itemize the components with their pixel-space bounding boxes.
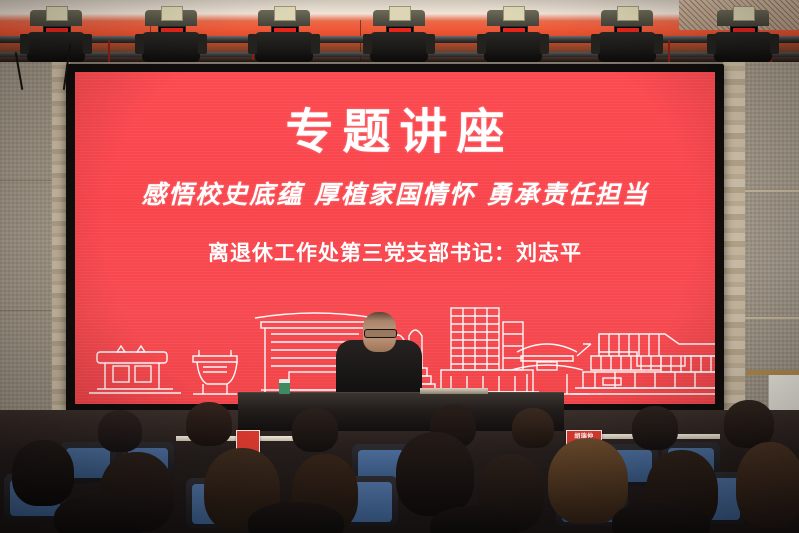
stage-light: [482, 4, 544, 62]
documents-on-table: [420, 388, 488, 394]
modern-library-icon: [571, 334, 715, 394]
audience-head: [54, 494, 146, 533]
audience-area: 胡瑞仲: [0, 398, 799, 533]
audience-head: [186, 402, 232, 446]
audience-head: [632, 406, 678, 450]
slide-subtitle: 感悟校史底蕴 厚植家国情怀 勇承责任担当: [75, 182, 715, 207]
stage-light: [25, 4, 87, 62]
presenter: [336, 312, 422, 396]
stage-light: [253, 4, 315, 62]
audience-head: [512, 408, 554, 448]
drink-cup: [279, 379, 290, 394]
audience-head: [548, 438, 628, 524]
audience-head: [98, 410, 142, 452]
high-rise-tower-icon: [435, 308, 539, 392]
stage-light: [368, 4, 430, 62]
stage-light: [140, 4, 202, 62]
glasses-icon: [364, 329, 397, 338]
audience-head: [396, 432, 474, 516]
gate-entrance-icon: [89, 346, 181, 393]
audience-head: [292, 408, 338, 452]
audience-head: [248, 502, 344, 533]
power-cable: [108, 40, 110, 62]
power-cable: [668, 40, 670, 62]
audience-head: [12, 440, 74, 506]
audience-head: [736, 442, 799, 528]
slide-title: 专题讲座: [75, 108, 715, 156]
audience-head: [724, 400, 774, 448]
traditional-archway-icon: [505, 344, 589, 394]
lecture-hall-photo: 专题讲座 感悟校史底蕴 厚植家国情怀 勇承责任担当 离退休工作处第三党支部书记：…: [0, 0, 799, 533]
stage-light: [596, 4, 658, 62]
ding-vessel-icon: [193, 350, 237, 394]
stage-light: [712, 4, 774, 62]
slide-presenter: 离退休工作处第三党支部书记：刘志平: [75, 242, 715, 263]
